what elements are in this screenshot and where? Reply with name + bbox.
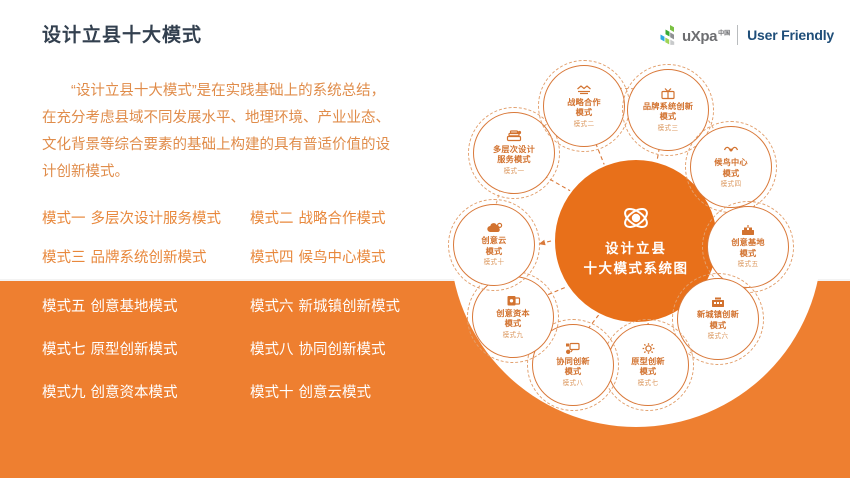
logo-wordmark: uXpa中国 — [682, 29, 729, 44]
mode-number: 模式九 — [42, 385, 86, 401]
mode-name: 战略合作模式 — [299, 211, 386, 227]
brand-logo: uXpa中国 User Friendly — [657, 22, 834, 48]
logo-wordmark-cn: 中国 — [718, 31, 730, 37]
node-title: 创意基地 模式 — [731, 238, 765, 259]
mode-item: 模式二战略合作模式 — [250, 210, 450, 228]
mode-number: 模式五 — [42, 299, 86, 315]
node-title: 品牌系统创新 模式 — [643, 102, 693, 123]
node-subtitle: 模式二 — [574, 120, 595, 130]
node-subtitle: 模式十 — [484, 258, 505, 268]
node-title: 候鸟中心 模式 — [714, 158, 748, 179]
mode-name: 候鸟中心模式 — [299, 250, 386, 266]
mode-number: 模式六 — [250, 299, 294, 315]
node-title: 新城镇创新 模式 — [697, 310, 739, 331]
node-title: 战略合作 模式 — [567, 98, 601, 119]
mode-item: 模式七原型创新模式 — [42, 341, 250, 359]
mode-number: 模式四 — [250, 250, 294, 266]
node-title: 创意云 模式 — [481, 236, 506, 257]
gear-sun-icon — [641, 342, 656, 355]
diagram-node-mode-10[interactable]: 创意云 模式 模式十 — [453, 204, 535, 286]
node-subtitle: 模式三 — [658, 124, 679, 134]
mode-name: 创意云模式 — [299, 385, 372, 401]
mode-item: 模式三品牌系统创新模式 — [42, 249, 250, 267]
mode-name: 协同创新模式 — [299, 342, 386, 358]
mode-number: 模式七 — [42, 342, 86, 358]
mode-list-bottom: 模式五创意基地模式 模式六新城镇创新模式 模式七原型创新模式 模式八协同创新模式… — [42, 298, 450, 402]
hub-title-line1: 设计立县 — [605, 239, 667, 259]
mode-item: 模式八协同创新模式 — [250, 341, 450, 359]
node-subtitle: 模式九 — [503, 331, 524, 341]
mode-item: 模式一多层次设计服务模式 — [42, 210, 250, 228]
handshake-icon — [576, 83, 592, 96]
mode-number: 模式二 — [250, 211, 294, 227]
ten-modes-system-diagram: 设计立县 十大模式系统图 多层次设计 服务模式 模式一 战略合作 模式 模式二 … — [450, 55, 822, 427]
node-subtitle: 模式一 — [504, 167, 525, 177]
logo-wordmark-text: uXpa — [682, 28, 717, 45]
mode-name: 创意资本模式 — [91, 385, 178, 401]
base-icon — [740, 224, 756, 236]
wallet-icon — [506, 294, 521, 307]
bird-icon — [723, 144, 739, 156]
node-title: 多层次设计 服务模式 — [493, 145, 535, 166]
mode-list-top: 模式一多层次设计服务模式 模式二战略合作模式 模式三品牌系统创新模式 模式四候鸟… — [42, 210, 450, 267]
mode-number: 模式一 — [42, 211, 86, 227]
mode-item: 模式六新城镇创新模式 — [250, 298, 450, 316]
mode-name: 新城镇创新模式 — [299, 299, 401, 315]
node-subtitle: 模式六 — [708, 332, 729, 342]
node-subtitle: 模式七 — [638, 379, 659, 389]
mode-number: 模式十 — [250, 385, 294, 401]
atom-orbit-icon — [621, 203, 651, 233]
mode-number: 模式八 — [250, 342, 294, 358]
logo-divider — [737, 25, 738, 45]
slide-canvas: 设计立县十大模式 uXpa中国 User Friendly “设计立县十大模式”… — [0, 0, 850, 478]
layers-icon — [506, 130, 522, 143]
diagram-node-mode-2[interactable]: 战略合作 模式 模式二 — [543, 65, 625, 147]
diagram-node-mode-7[interactable]: 原型创新 模式 模式七 — [607, 324, 689, 406]
city-icon — [710, 296, 726, 308]
node-subtitle: 模式四 — [721, 180, 742, 190]
cloud-icon — [486, 222, 503, 234]
node-title: 协同创新 模式 — [556, 357, 590, 378]
brand-box-icon — [660, 87, 676, 100]
diagram-node-mode-4[interactable]: 候鸟中心 模式 模式四 — [690, 126, 772, 208]
mode-name: 多层次设计服务模式 — [91, 211, 222, 227]
mode-number: 模式三 — [42, 250, 86, 266]
collab-icon — [565, 342, 581, 355]
mode-name: 创意基地模式 — [91, 299, 178, 315]
mode-item: 模式九创意资本模式 — [42, 384, 250, 402]
hub-title-line2: 十大模式系统图 — [584, 259, 689, 279]
logo-partner-text: User Friendly — [747, 27, 834, 43]
mode-name: 品牌系统创新模式 — [91, 250, 207, 266]
node-title: 创意资本 模式 — [496, 309, 530, 330]
mode-name: 原型创新模式 — [91, 342, 178, 358]
uxpa-cubes-logo-icon — [657, 24, 679, 46]
mode-item: 模式四候鸟中心模式 — [250, 249, 450, 267]
node-title: 原型创新 模式 — [631, 357, 665, 378]
node-subtitle: 模式五 — [738, 260, 759, 270]
mode-item: 模式五创意基地模式 — [42, 298, 250, 316]
node-subtitle: 模式八 — [563, 379, 584, 389]
intro-paragraph: “设计立县十大模式”是在实践基础上的系统总结，在充分考虑县域不同发展水平、地理环… — [42, 78, 394, 186]
page-title: 设计立县十大模式 — [42, 20, 202, 47]
mode-item: 模式十创意云模式 — [250, 384, 450, 402]
